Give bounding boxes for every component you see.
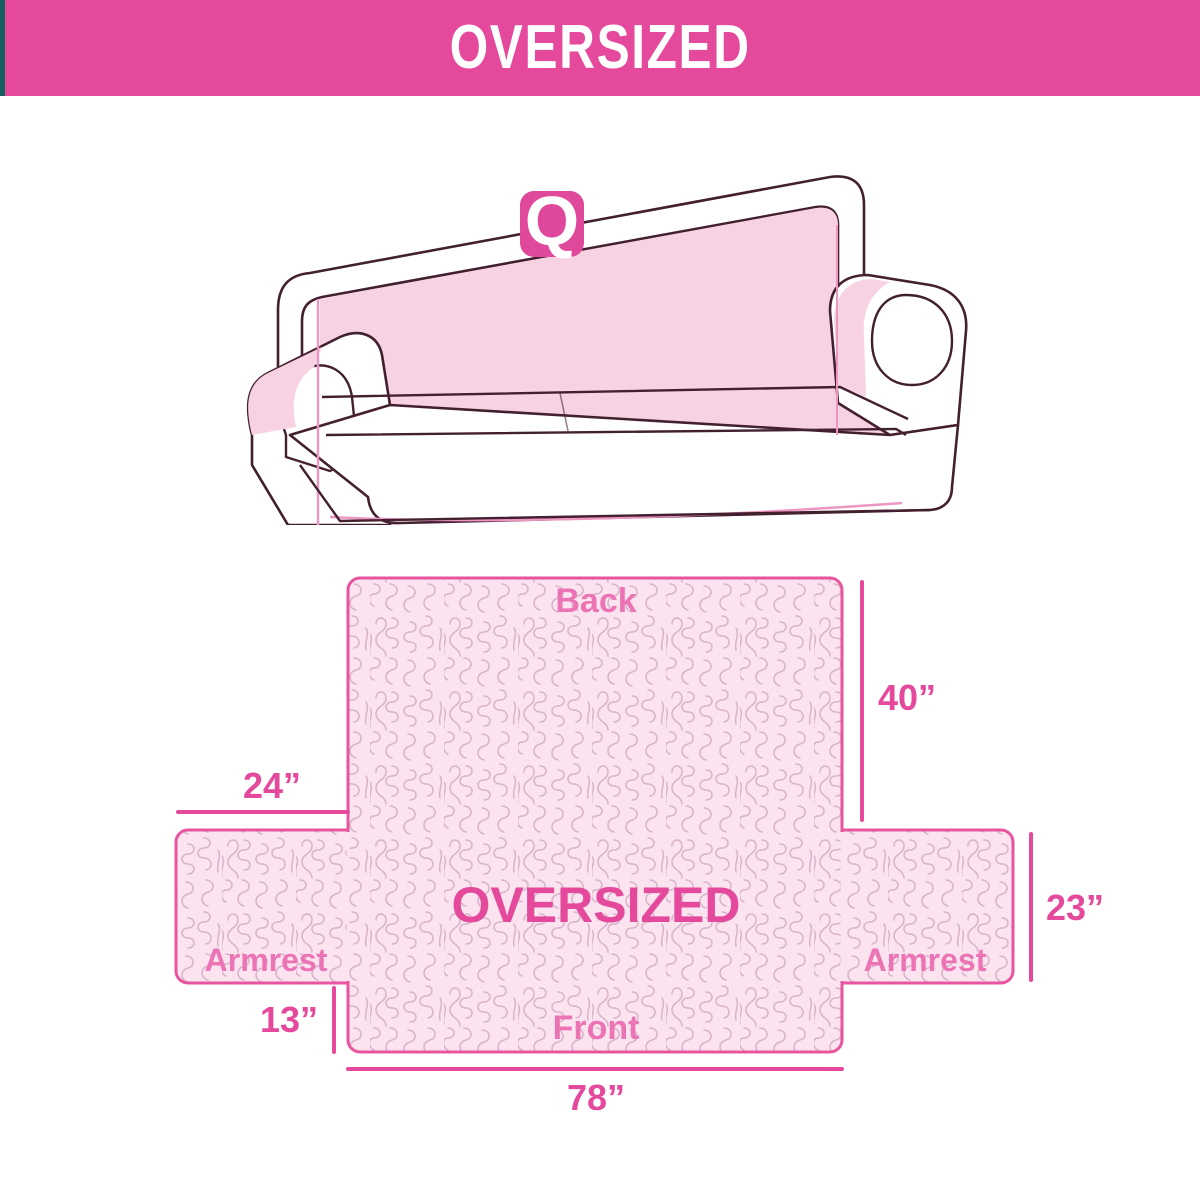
header-banner: OVERSIZED [0,0,1200,96]
dimension-24: 24” [178,765,348,812]
label-armrest-right: Armrest [864,942,987,978]
cover-center-panel [348,578,842,1052]
dimension-value-78: 78” [567,1077,625,1118]
label-armrest-left: Armrest [205,942,328,978]
page-title: OVERSIZED [449,17,750,79]
dimension-40: 40” [862,582,936,820]
sofa-drawing: Q [248,176,966,525]
dimension-78: 78” [348,1069,842,1118]
dimension-13: 13” [260,988,334,1052]
dimension-value-13: 13” [260,999,318,1040]
dimension-value-40: 40” [878,677,936,718]
label-back: Back [555,582,636,620]
logo-letter: Q [525,182,579,260]
dimension-value-24: 24” [243,765,301,806]
cover-layout-diagram: Back Front Armrest Armrest OVERSIZED 24”… [0,540,1200,1140]
cover-shape-group [176,578,1013,1052]
sofa-right-arm-roll [872,295,952,385]
header-accent-stripe [0,0,5,96]
sofa-illustration: Q [230,135,990,525]
dimension-23: 23” [1031,834,1104,980]
brand-logo: Q [520,182,584,260]
dimension-value-23: 23” [1046,887,1104,928]
label-center-size: OVERSIZED [452,877,741,933]
label-front: Front [553,1009,640,1047]
